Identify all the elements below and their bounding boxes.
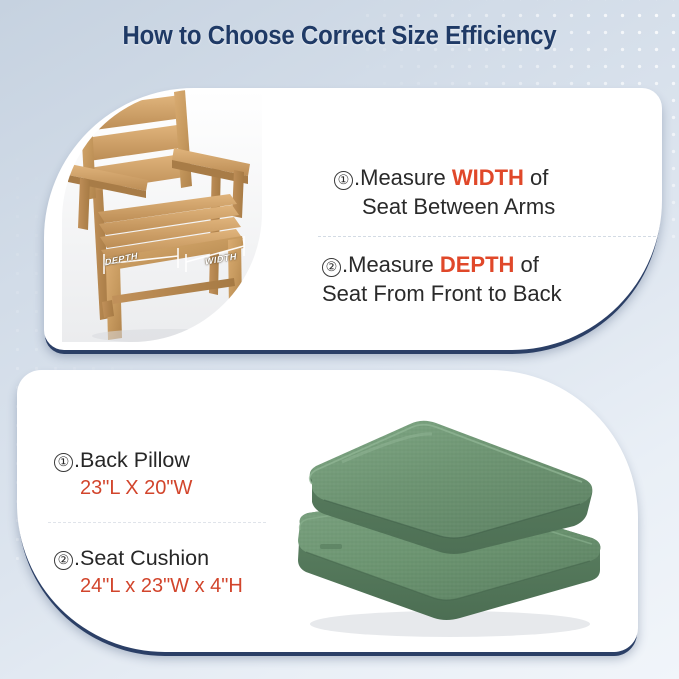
measure-item-width: ①.Measure WIDTH of Seat Between Arms	[334, 163, 555, 221]
measure-suffix: of	[524, 165, 548, 190]
measure-prefix: .Measure	[354, 165, 452, 190]
measure-prefix: .Measure	[342, 252, 440, 277]
cushion-name-seat-cushion: ②.Seat Cushion	[54, 545, 243, 572]
number-circle-1: ①	[54, 453, 73, 472]
number-circle-1: ①	[334, 171, 353, 190]
measure-item-width-line1: ①.Measure WIDTH of	[334, 163, 555, 192]
step1-divider	[318, 236, 656, 237]
measure-keyword-depth: DEPTH	[440, 252, 515, 277]
measure-item-depth: ②.Measure DEPTH of Seat From Front to Ba…	[322, 250, 562, 308]
measure-keyword-width: WIDTH	[452, 165, 524, 190]
step2-divider	[48, 522, 266, 523]
number-circle-2: ②	[54, 551, 73, 570]
cushion-name-back-pillow: ①.Back Pillow	[54, 447, 192, 474]
cushion-image	[282, 418, 612, 643]
measure-item-depth-line2: Seat From Front to Back	[322, 279, 562, 308]
cushion-item-back-pillow: ①.Back Pillow 23"L X 20"W	[54, 447, 192, 502]
cushion-item-seat-cushion: ②.Seat Cushion 24"L x 23"W x 4"H	[54, 545, 243, 600]
measure-item-depth-line1: ②.Measure DEPTH of	[322, 250, 562, 279]
cushion-dimensions-back-pillow: 23"L X 20"W	[54, 474, 192, 502]
number-circle-2: ②	[322, 258, 341, 277]
measure-item-width-line2: Seat Between Arms	[334, 192, 555, 221]
cushion-dimensions-seat-cushion: 24"L x 23"W x 4"H	[54, 572, 243, 600]
page-title: How to Choose Correct Size Efficiency	[20, 22, 658, 51]
measure-suffix: of	[514, 252, 538, 277]
